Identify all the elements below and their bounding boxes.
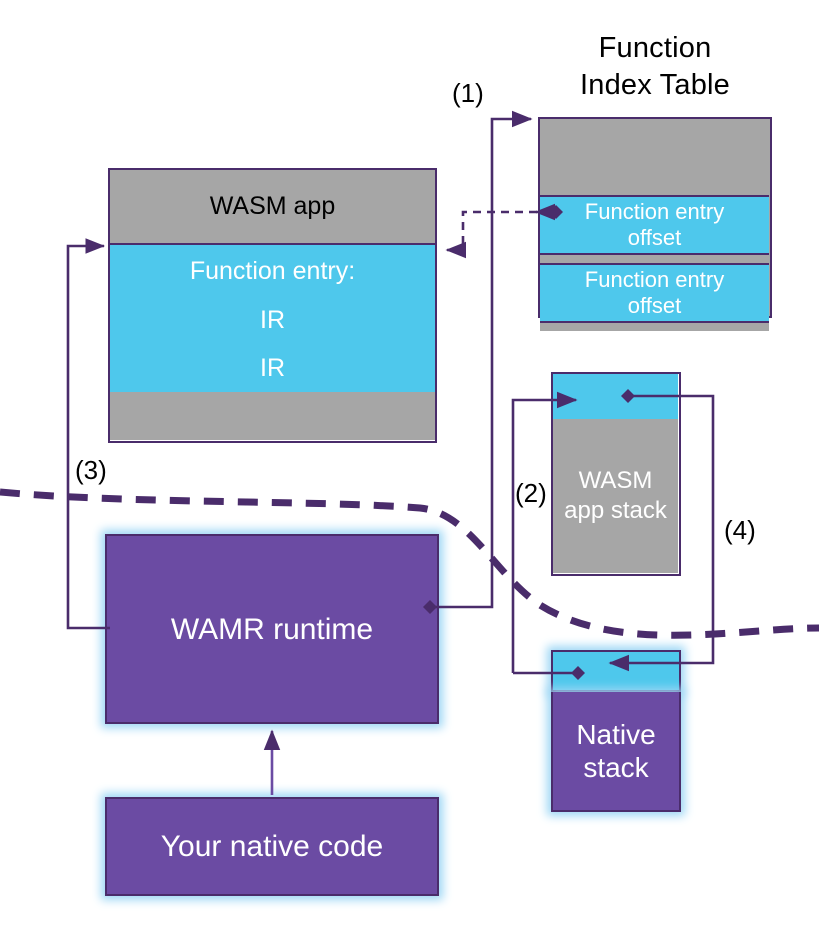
wasm-app-row-function-entry[interactable]: Function entry: (110, 243, 435, 300)
diagram-canvas: Function Index Table Function entry offs… (0, 0, 819, 925)
wasm-app-row-header: WASM app (110, 170, 435, 243)
fit-separator-0 (540, 255, 769, 263)
native-stack-body: Native stack (551, 692, 681, 812)
wasm-app-row-ir-0[interactable]: IR (110, 296, 435, 346)
wire-step-1 (423, 119, 531, 614)
wasm-app-row-ir-1[interactable]: IR (110, 344, 435, 394)
fit-row-entry-0-label: Function entry offset (567, 199, 742, 251)
step-label-1: (1) (452, 78, 484, 108)
function-index-table: Function entry offset Function entry off… (538, 117, 772, 318)
wasm-app-function-entry-label: Function entry: (190, 257, 355, 286)
wasm-app-stack-top-band[interactable] (553, 374, 678, 419)
native-stack-top-band[interactable] (551, 650, 681, 692)
wasm-app-stack-label: WASM app stack (561, 466, 671, 526)
step-label-3: (3) (75, 455, 107, 485)
step-label-4: (4) (724, 515, 756, 545)
fit-row-empty-top (540, 119, 769, 195)
wamr-runtime-label: WAMR runtime (171, 613, 373, 646)
your-native-code-label: Your native code (161, 830, 383, 863)
your-native-code-block[interactable]: Your native code (105, 797, 439, 896)
fit-row-entry-1-label: Function entry offset (567, 267, 742, 319)
wasm-app-ir-0-label: IR (260, 306, 285, 335)
step-label-2: (2) (515, 478, 547, 508)
function-index-table-heading: Function Index Table (525, 30, 785, 104)
wasm-app-ir-1-label: IR (260, 354, 285, 383)
fit-row-entry-0[interactable]: Function entry offset (540, 195, 769, 255)
fit-heading-line1: Function (525, 30, 785, 67)
native-stack-label: Native stack (561, 718, 671, 784)
fit-row-entry-1[interactable]: Function entry offset (540, 263, 769, 323)
wamr-runtime-block[interactable]: WAMR runtime (105, 534, 439, 724)
fit-heading-line2: Index Table (525, 67, 785, 104)
wasm-app-label: WASM app (210, 192, 336, 221)
wasm-app-row-empty-bottom (110, 392, 435, 440)
native-stack-block: Native stack (551, 650, 681, 812)
fit-separator-1 (540, 323, 769, 331)
wasm-app-stack-block: WASM app stack (551, 372, 681, 576)
wire-step-3 (68, 246, 110, 628)
wasm-app-stack-body: WASM app stack (553, 419, 678, 573)
wasm-app-block: WASM app Function entry: IR IR (108, 168, 437, 443)
